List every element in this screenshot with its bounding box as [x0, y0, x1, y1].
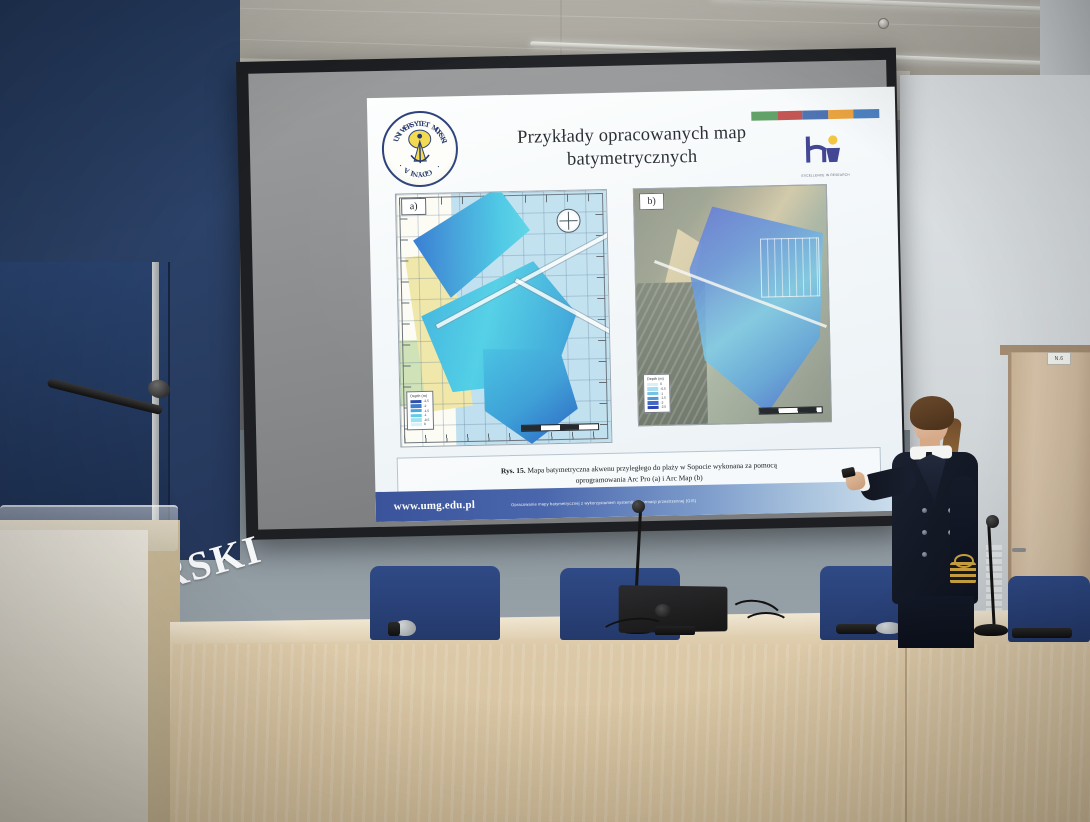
door-number-sign: N.6: [1047, 352, 1071, 365]
legend-label: -2: [424, 404, 427, 408]
door-handle[interactable]: [1012, 548, 1026, 552]
map-b-tag: b): [639, 193, 664, 211]
screen-surface: UNIWERSYTET MORSKI · GDYNIA ·: [248, 60, 896, 530]
monitor-lens: [655, 604, 671, 617]
legend-row: 0: [411, 422, 430, 426]
rank-curl-icon: [954, 554, 974, 568]
map-b-depth-legend: Depth (m) 0-0,5-1-1,5-2-2,5: [643, 374, 670, 413]
hr-color-bar: [751, 109, 879, 121]
hr-bar-segment: [854, 109, 880, 119]
legend-label: -0,5: [424, 418, 430, 422]
hr-excellence-logo: EXCELLENCE IN RESEARCH: [794, 131, 857, 177]
legend-swatch: [647, 392, 658, 396]
caption-line2: oprogramowania Arc Pro (a) i Arc Map (b): [576, 473, 703, 485]
projection-screen: UNIWERSYTET MORSKI · GDYNIA ·: [236, 48, 906, 540]
cable: [742, 612, 790, 638]
presentation-slide: UNIWERSYTET MORSKI · GDYNIA ·: [367, 87, 904, 522]
map-b: Depth (m) 0-0,5-1-1,5-2-2,5 b): [633, 184, 832, 426]
footer-url: www.umg.edu.pl: [394, 499, 476, 513]
legend-label: -2: [660, 401, 663, 405]
legend-label: -1,5: [660, 396, 666, 400]
legend-swatch: [647, 383, 658, 387]
legend-title: Depth (m): [647, 377, 666, 381]
legend-label: 0: [424, 422, 426, 426]
legend-swatch: [410, 400, 421, 404]
hr-logo-caption: EXCELLENCE IN RESEARCH: [795, 172, 857, 177]
lecture-hall-scene: N.6 UNIWERSYTET MORSKI · GDYNIA ·: [0, 0, 1090, 822]
legend-label: -2,5: [423, 399, 429, 403]
legend-swatch: [411, 423, 422, 427]
lectern-front-panel: WYDZIAŁ NAWIGACYJNY UNIWERSYTET MORSKI: [0, 530, 148, 822]
seal-emblem-icon: [402, 127, 437, 170]
legend-label: -1: [424, 413, 427, 417]
map-figures: Depth (m) -2,5-2-1,5-1-0,50 a): [383, 183, 888, 450]
hr-bar-segment: [777, 111, 803, 121]
sprinkler-icon: [878, 18, 889, 29]
ceiling-light: [710, 0, 1090, 15]
legend-title: Depth (m): [410, 394, 429, 398]
footer-note: Opracowanie mapy batymetrycznej z wykorz…: [511, 498, 696, 507]
presenter: [862, 396, 1002, 646]
legend-label: -0,5: [660, 387, 666, 391]
uniform-button: [922, 552, 927, 557]
legend-label: -2,5: [661, 405, 667, 409]
hr-bar-segment: [828, 110, 854, 120]
legend-swatch: [647, 387, 658, 391]
map-a: Depth (m) -2,5-2-1,5-1-0,50 a): [395, 189, 612, 448]
microphone-head-icon: [632, 500, 645, 513]
legend-swatch: [647, 401, 658, 405]
legend-swatch: [411, 409, 422, 413]
desk-grain: [170, 644, 1090, 822]
desk-seam: [905, 646, 907, 822]
map-b-scale-bar: [759, 406, 823, 414]
uniform-button: [922, 508, 927, 513]
presenter-hair: [910, 396, 954, 430]
legend-label: 0: [660, 382, 662, 386]
legend-row: -2,5: [648, 405, 667, 409]
uniform-button: [922, 530, 927, 535]
desk-device[interactable]: [388, 622, 400, 636]
university-seal: UNIWERSYTET MORSKI · GDYNIA ·: [381, 110, 459, 188]
map-a-depth-legend: Depth (m) -2,5-2-1,5-1-0,50: [406, 391, 433, 430]
legend-swatch: [648, 406, 659, 410]
hr-bar-segment: [802, 110, 828, 120]
legend-label: -1,5: [424, 408, 430, 412]
legend-swatch: [411, 414, 422, 418]
hr-bar-segment: [751, 111, 777, 121]
legend-swatch: [411, 418, 422, 422]
caption-line1: Mapa batymetryczna akwenu przyległego do…: [527, 460, 777, 474]
legend-swatch: [411, 404, 422, 408]
caption-prefix: Rys. 15.: [501, 466, 526, 476]
map-a-tag: a): [401, 198, 426, 216]
legend-label: -1: [660, 391, 663, 395]
legend-row: -0,5: [411, 418, 430, 422]
hr-mark-icon: [804, 132, 847, 167]
slide-title: Przykłady opracowanych map batymetryczny…: [463, 121, 800, 175]
desk-device[interactable]: [1012, 628, 1072, 638]
legend-swatch: [647, 396, 658, 400]
presenter-lower-uniform: [898, 596, 974, 648]
